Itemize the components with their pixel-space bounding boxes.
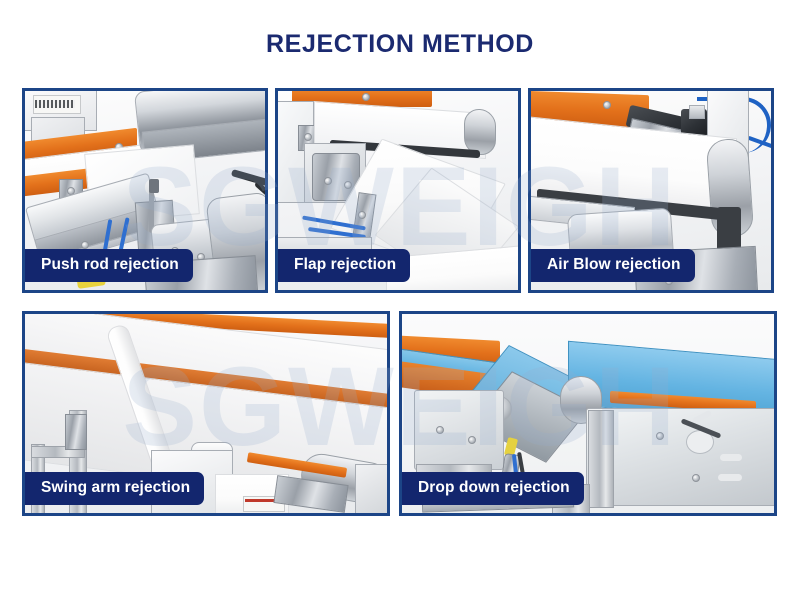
panel-label-drop-down: Drop down rejection <box>402 472 584 505</box>
poster-root: REJECTION METHOD <box>0 0 800 594</box>
panel-push-rod[interactable]: Push rod rejection <box>22 88 268 293</box>
panel-label-swing-arm: Swing arm rejection <box>25 472 204 505</box>
page-title: REJECTION METHOD <box>0 30 800 59</box>
panel-label-push-rod: Push rod rejection <box>25 249 193 282</box>
panel-label-air-blow: Air Blow rejection <box>531 249 695 282</box>
panel-swing-arm[interactable]: Swing arm rejection <box>22 311 390 516</box>
panel-label-flap: Flap rejection <box>278 249 410 282</box>
panel-drop-down[interactable]: Drop down rejection <box>399 311 777 516</box>
panel-flap[interactable]: Flap rejection <box>275 88 521 293</box>
panel-air-blow[interactable]: Air Blow rejection <box>528 88 774 293</box>
